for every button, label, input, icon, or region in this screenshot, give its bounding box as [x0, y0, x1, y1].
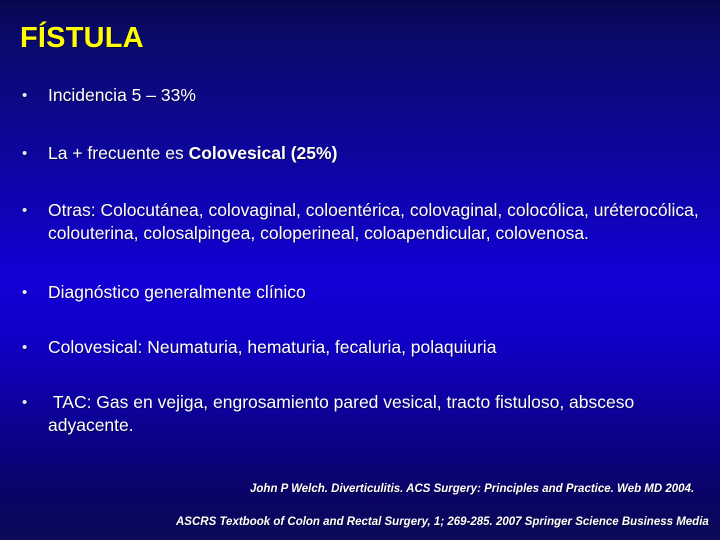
list-item-text: Colovesical: Neumaturia, hematuria, feca…: [48, 336, 710, 359]
page-title: FÍSTULA: [20, 22, 144, 55]
list-item: • Otras: Colocutánea, colovaginal, coloe…: [20, 199, 710, 245]
list-item-text: Otras: Colocutánea, colovaginal, coloent…: [48, 199, 710, 245]
bullet-glyph-icon: •: [22, 281, 34, 304]
list-item: • TAC: Gas en vejiga, engrosamiento pare…: [20, 391, 710, 437]
bullet-glyph-icon: •: [22, 199, 34, 222]
list-item-text-plain: Diagnóstico generalmente clínico: [48, 282, 306, 302]
list-item-text-plain: La + frecuente es: [48, 143, 189, 163]
bullet-glyph-icon: •: [22, 84, 34, 107]
bullet-glyph-icon: •: [22, 391, 34, 414]
citation-line-1: John P Welch. Diverticulitis. ACS Surger…: [250, 483, 694, 495]
list-item: • Incidencia 5 – 33%: [20, 84, 710, 107]
slide-canvas: FÍSTULA • Incidencia 5 – 33% • La + frec…: [0, 0, 720, 540]
list-item-text-bold: Colovesical (25%): [189, 143, 338, 163]
list-item-text: La + frecuente es Colovesical (25%): [48, 142, 710, 165]
citation-line-2: ASCRS Textbook of Colon and Rectal Surge…: [176, 516, 709, 528]
bullet-list: • Incidencia 5 – 33% • La + frecuente es…: [20, 84, 710, 437]
list-item: • Diagnóstico generalmente clínico: [20, 281, 710, 304]
list-item-text: Diagnóstico generalmente clínico: [48, 281, 710, 304]
list-item-text: Incidencia 5 – 33%: [48, 84, 710, 107]
list-item-text-plain: TAC: Gas en vejiga, engrosamiento pared …: [48, 392, 639, 435]
list-item-text-plain: Incidencia 5 – 33%: [48, 85, 196, 105]
list-item-text-plain: Colovesical: Neumaturia, hematuria, feca…: [48, 337, 496, 357]
list-item: • La + frecuente es Colovesical (25%): [20, 142, 710, 165]
list-item: • Colovesical: Neumaturia, hematuria, fe…: [20, 336, 710, 359]
list-item-text-plain: Otras: Colocutánea, colovaginal, coloent…: [48, 200, 704, 243]
bullet-glyph-icon: •: [22, 142, 34, 165]
bullet-glyph-icon: •: [22, 336, 34, 359]
list-item-text: TAC: Gas en vejiga, engrosamiento pared …: [48, 391, 710, 437]
